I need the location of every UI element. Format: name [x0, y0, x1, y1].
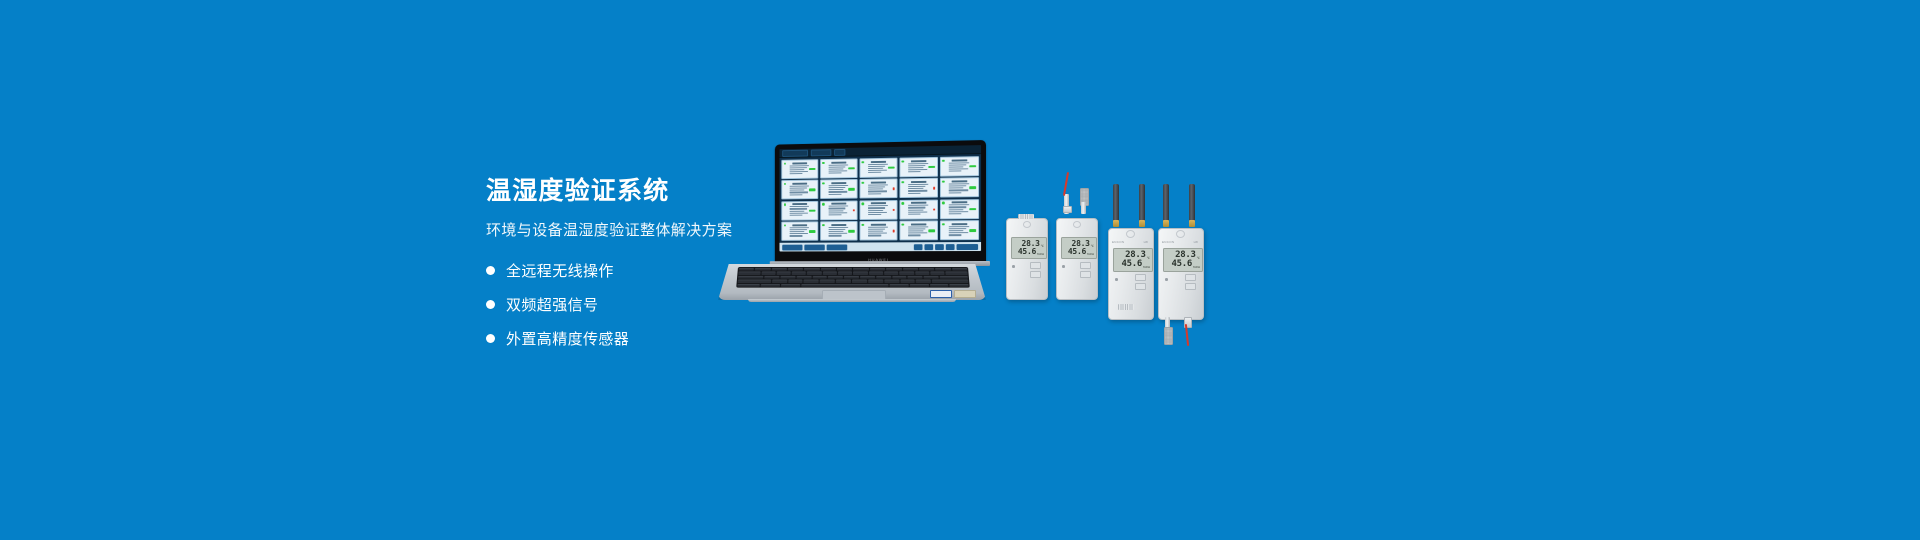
- sensor-status-pill: [933, 208, 935, 210]
- sensor-status-led-icon: [784, 183, 786, 185]
- sensor-card-title: [871, 181, 887, 183]
- hanger-hole-icon: [1126, 230, 1135, 238]
- sensor-status-pill: [888, 167, 895, 169]
- header-chip: [782, 149, 808, 156]
- sensor-field: [868, 207, 886, 208]
- pager-button[interactable]: [914, 244, 923, 250]
- laptop-sticker-blue: [930, 290, 952, 298]
- sensor-field: [948, 171, 961, 172]
- laptop-keyboard[interactable]: [736, 267, 970, 288]
- sensor-field: [908, 228, 926, 229]
- keyboard-key[interactable]: [788, 280, 803, 283]
- sensor-card[interactable]: [899, 178, 938, 198]
- keyboard-key[interactable]: [884, 280, 899, 283]
- lcd-humidity-unit: %RH: [1087, 253, 1094, 257]
- sensor-status-led-icon: [862, 182, 864, 184]
- sensor-status-pill: [969, 165, 976, 168]
- status-led-icon: [1062, 265, 1065, 268]
- sensor-field: [948, 204, 969, 205]
- sensor-card-title: [951, 180, 967, 182]
- sensor-field: [948, 232, 968, 233]
- device-lcd-display: 28.3 ℃ 45.6 %RH: [1113, 248, 1153, 272]
- keyboard-key[interactable]: [837, 268, 852, 271]
- sensor-field: [790, 235, 803, 236]
- header-chip: [811, 149, 831, 156]
- sensor-field: [828, 231, 843, 232]
- sensor-card[interactable]: [940, 156, 980, 176]
- sensor-status-pill: [933, 187, 935, 189]
- keyboard-key[interactable]: [924, 276, 939, 279]
- sensor-status-led-icon: [942, 159, 944, 162]
- sensor-field: [790, 212, 808, 213]
- keyboard-key[interactable]: [886, 268, 901, 271]
- keyboard-key[interactable]: [812, 276, 827, 279]
- device-wireless-logger-dual-antenna-probe: ENCON H8 28.3 ℃ 45.6 %RH: [1158, 228, 1202, 318]
- keyboard-key[interactable]: [737, 284, 760, 287]
- sensor-field: [908, 214, 921, 215]
- keyboard-key[interactable]: [870, 268, 885, 271]
- toolbar-button[interactable]: [804, 244, 824, 250]
- sensor-card-title: [871, 223, 887, 225]
- keyboard-key[interactable]: [792, 272, 807, 275]
- device-button-down[interactable]: [1185, 283, 1196, 290]
- keyboard-key[interactable]: [772, 280, 787, 283]
- sensor-field: [828, 212, 847, 213]
- header-chip: [834, 148, 845, 155]
- device-button-down[interactable]: [1135, 283, 1146, 290]
- sensor-field: [908, 205, 929, 206]
- device-data-logger-external-probe: 28.3 ℃ 45.6 %RH: [1056, 218, 1096, 298]
- sensor-field: [908, 171, 921, 172]
- sensor-card-title: [911, 181, 927, 183]
- lcd-humidity-row: 45.6 %RH: [1018, 248, 1044, 256]
- sensor-field: [868, 189, 883, 190]
- device-button-up[interactable]: [1080, 262, 1091, 269]
- sensor-field: [828, 173, 841, 174]
- sensor-field: [948, 190, 968, 191]
- sensor-field: [828, 185, 848, 186]
- keyboard-key[interactable]: [738, 276, 764, 279]
- sensor-field: [948, 168, 968, 170]
- keyboard-key[interactable]: [838, 272, 852, 275]
- keyboard-key[interactable]: [949, 284, 968, 287]
- sensor-status-led-icon: [822, 161, 824, 163]
- keyboard-key[interactable]: [796, 276, 811, 279]
- pager-button[interactable]: [935, 244, 944, 250]
- device-top-grille: [1018, 214, 1034, 219]
- sensor-card[interactable]: [820, 200, 858, 220]
- device-button-up[interactable]: [1030, 262, 1041, 269]
- bullet-dot-icon: [486, 266, 495, 275]
- keyboard-key[interactable]: [828, 276, 843, 279]
- sensor-field: [908, 165, 926, 166]
- keyboard-key[interactable]: [900, 272, 915, 275]
- hanger-hole-icon: [1176, 230, 1185, 238]
- device-lcd-display: 28.3 ℃ 45.6 %RH: [1011, 237, 1047, 259]
- sensor-field: [948, 207, 966, 208]
- sensor-field: [828, 208, 845, 209]
- sensor-card[interactable]: [899, 157, 938, 177]
- probe-stem: [1081, 202, 1086, 214]
- antenna-connector-right: [1189, 220, 1195, 227]
- sensor-field: [828, 191, 847, 192]
- antenna-connector-left: [1113, 220, 1119, 227]
- keyboard-key[interactable]: [916, 280, 931, 283]
- device-housing: [1006, 218, 1048, 300]
- keyboard-key[interactable]: [900, 280, 915, 283]
- device-bottom-grille: [1118, 304, 1134, 310]
- sensor-card-title: [792, 224, 807, 226]
- device-lcd-display: 28.3 ℃ 45.6 %RH: [1163, 248, 1203, 272]
- sensor-status-led-icon: [784, 203, 786, 205]
- sensor-field: [908, 188, 923, 189]
- device-model: H8: [1144, 240, 1148, 244]
- sensor-field: [868, 191, 887, 192]
- keyboard-key[interactable]: [876, 276, 891, 279]
- keyboard-key[interactable]: [860, 276, 875, 279]
- lcd-humidity-row: 45.6 %RH: [1122, 260, 1151, 269]
- sensor-card-title: [792, 162, 807, 164]
- sensor-status-pill: [969, 187, 976, 189]
- sensor-field: [828, 210, 843, 211]
- sensor-card[interactable]: [859, 200, 897, 220]
- sensor-status-led-icon: [862, 203, 864, 205]
- keyboard-key[interactable]: [890, 284, 909, 287]
- toolbar-button-exit[interactable]: [957, 244, 979, 250]
- antenna-connector-left: [1163, 220, 1169, 227]
- sensor-field: [828, 170, 847, 171]
- keyboard-key[interactable]: [844, 276, 859, 279]
- device-lcd-display: 28.3 ℃ 45.6 %RH: [1061, 237, 1097, 259]
- sensor-field: [948, 213, 961, 214]
- keyboard-key[interactable]: [807, 272, 822, 275]
- keyboard-key[interactable]: [776, 272, 791, 275]
- keyboard-key[interactable]: [910, 284, 929, 287]
- sensor-status-led-icon: [784, 162, 786, 164]
- lcd-humidity-row: 45.6 %RH: [1068, 248, 1094, 256]
- device-keypad[interactable]: [1185, 274, 1196, 290]
- keyboard-key[interactable]: [821, 268, 836, 271]
- keyboard-key[interactable]: [932, 280, 968, 283]
- sensor-card[interactable]: [820, 221, 858, 241]
- keyboard-key[interactable]: [738, 272, 760, 275]
- sensor-status-pill: [848, 167, 855, 169]
- keyboard-key[interactable]: [820, 280, 835, 283]
- keyboard-key[interactable]: [836, 280, 851, 283]
- sensor-card[interactable]: [940, 177, 980, 197]
- sensor-field: [948, 235, 961, 236]
- sensor-card-title: [871, 202, 887, 204]
- sensor-field: [948, 162, 969, 164]
- lcd-humidity-value: 45.6: [1068, 248, 1086, 256]
- sensor-field: [868, 226, 888, 227]
- sensor-card[interactable]: [859, 179, 897, 199]
- sensor-card-title: [831, 203, 846, 205]
- laptop-front-edge: [748, 299, 956, 302]
- sensor-field: [790, 192, 808, 193]
- keyboard-key[interactable]: [952, 268, 968, 271]
- keyboard-key[interactable]: [852, 280, 867, 283]
- sensor-field: [868, 170, 887, 171]
- sensor-field: [908, 192, 921, 193]
- keyboard-key[interactable]: [801, 284, 888, 287]
- sensor-status-led-icon: [822, 224, 824, 226]
- sensor-status-pill: [893, 209, 895, 211]
- keyboard-key[interactable]: [868, 280, 883, 283]
- sensor-field: [908, 169, 927, 170]
- sensor-field: [828, 229, 845, 230]
- keyboard-key[interactable]: [884, 272, 898, 275]
- keyboard-key[interactable]: [853, 272, 867, 275]
- pager-button[interactable]: [946, 244, 955, 250]
- sensor-card-title: [911, 160, 927, 162]
- sensor-field: [948, 230, 963, 231]
- sensor-status-pill: [928, 229, 935, 231]
- sensor-card-title: [951, 223, 967, 225]
- sensor-status-led-icon: [942, 223, 944, 225]
- sensor-card[interactable]: [781, 159, 818, 179]
- device-housing: [1056, 218, 1098, 300]
- device-button-down[interactable]: [1080, 271, 1091, 278]
- device-data-logger-compact: 28.3 ℃ 45.6 %RH: [1006, 218, 1046, 298]
- hanger-hole-icon: [1023, 221, 1031, 228]
- laptop-product-image: HUAWEI: [718, 140, 986, 300]
- sensor-status-led-icon: [862, 224, 864, 226]
- sensor-card[interactable]: [940, 220, 980, 240]
- sensor-field: [948, 209, 963, 210]
- sensor-status-pill: [893, 188, 895, 190]
- device-keypad[interactable]: [1135, 274, 1146, 290]
- sensor-field: [828, 227, 848, 228]
- sensor-field: [828, 235, 841, 236]
- keyboard-key[interactable]: [780, 276, 795, 279]
- sensor-field: [908, 209, 923, 210]
- sensor-card[interactable]: [781, 201, 818, 221]
- sensor-field: [790, 171, 808, 172]
- sensor-status-pill: [809, 230, 815, 232]
- status-led-icon: [1165, 278, 1168, 281]
- keyboard-key[interactable]: [804, 280, 819, 283]
- sensor-field: [790, 215, 803, 216]
- sensor-card[interactable]: [820, 158, 858, 178]
- keyboard-key[interactable]: [771, 268, 787, 271]
- device-button-up[interactable]: [1135, 274, 1146, 281]
- sensor-field: [868, 212, 887, 213]
- sensor-field: [868, 205, 888, 206]
- sensor-status-pill: [969, 208, 976, 210]
- keyboard-key[interactable]: [903, 268, 919, 271]
- sensor-field: [868, 163, 888, 165]
- sensor-field: [790, 194, 803, 195]
- keyboard-key[interactable]: [892, 276, 907, 279]
- antenna-connector-right: [1139, 220, 1145, 227]
- keyboard-key[interactable]: [738, 280, 771, 283]
- sensor-field: [868, 193, 881, 194]
- keyboard-key[interactable]: [788, 268, 804, 271]
- device-brand-row: ENCON H8: [1158, 240, 1202, 244]
- sensor-field: [868, 184, 888, 185]
- device-brand-row: ENCON H8: [1108, 240, 1152, 244]
- keyboard-key[interactable]: [764, 276, 779, 279]
- sensor-status-pill: [853, 209, 855, 211]
- sensor-field: [868, 172, 881, 173]
- device-keypad[interactable]: [1030, 262, 1041, 278]
- sensor-status-led-icon: [822, 182, 824, 184]
- sensor-card-title: [951, 201, 967, 203]
- sensor-field: [908, 190, 927, 191]
- laptop-sticker-gold: [954, 290, 976, 298]
- sensor-field: [908, 233, 927, 234]
- device-model: H8: [1194, 240, 1198, 244]
- sensor-status-led-icon: [902, 160, 904, 163]
- keyboard-key[interactable]: [761, 272, 776, 275]
- sensor-card-title: [911, 223, 927, 225]
- sensor-field: [828, 214, 841, 215]
- hanger-hole-icon: [1073, 221, 1081, 228]
- sensor-field: [790, 173, 803, 174]
- sensor-card-title: [792, 183, 807, 185]
- status-led-icon: [1115, 278, 1118, 281]
- keyboard-key[interactable]: [781, 284, 800, 287]
- sensor-card[interactable]: [859, 221, 897, 241]
- sensor-status-led-icon: [942, 202, 944, 205]
- keyboard-key[interactable]: [915, 272, 930, 275]
- device-button-up[interactable]: [1185, 274, 1196, 281]
- laptop-lid: HUAWEI: [775, 140, 986, 264]
- sensor-status-pill: [848, 188, 855, 190]
- sensor-field: [948, 228, 966, 229]
- sensor-field: [948, 226, 969, 227]
- antenna-right: [1189, 184, 1195, 222]
- lcd-humidity-unit: %RH: [1193, 266, 1200, 270]
- sensor-status-led-icon: [942, 180, 944, 183]
- sensor-status-pill: [969, 229, 976, 231]
- sensor-card[interactable]: [899, 220, 938, 240]
- sensor-card[interactable]: [781, 180, 818, 200]
- sensor-field: [828, 206, 848, 207]
- sensor-card[interactable]: [820, 179, 858, 199]
- sensor-field: [828, 233, 847, 234]
- sensor-card-title: [831, 161, 846, 163]
- sensor-field: [790, 233, 808, 234]
- status-led-icon: [1012, 265, 1015, 268]
- sensor-field: [868, 210, 883, 211]
- sensor-card[interactable]: [899, 199, 938, 219]
- keyboard-key[interactable]: [930, 272, 945, 275]
- keyboard-key[interactable]: [946, 272, 968, 275]
- device-keypad[interactable]: [1080, 262, 1091, 278]
- sensor-field: [868, 235, 881, 236]
- pager-button[interactable]: [924, 244, 933, 250]
- keyboard-key[interactable]: [739, 268, 755, 271]
- sensor-field: [868, 228, 886, 229]
- sensor-card-grid: [779, 154, 981, 243]
- sensor-field: [908, 226, 929, 227]
- sensor-card-title: [951, 159, 967, 161]
- sensor-field: [790, 210, 805, 211]
- sensor-field: [908, 163, 929, 165]
- bullet-dot-icon: [486, 334, 495, 343]
- keyboard-key[interactable]: [823, 272, 837, 275]
- lcd-humidity-value: 45.6: [1018, 248, 1036, 256]
- sensor-field: [868, 231, 883, 232]
- keyboard-key[interactable]: [804, 268, 819, 271]
- sensor-field: [908, 230, 923, 231]
- sensor-field: [908, 235, 921, 236]
- sensor-field: [948, 164, 966, 166]
- feature-label: 外置高精度传感器: [506, 328, 629, 349]
- toolbar-button[interactable]: [827, 244, 848, 250]
- monitoring-dashboard: [779, 145, 981, 251]
- sensor-field: [790, 231, 805, 232]
- probe-connector: [1063, 206, 1072, 213]
- device-button-down[interactable]: [1030, 271, 1041, 278]
- lcd-humidity-value: 45.6: [1172, 260, 1192, 269]
- sensor-field: [828, 166, 845, 167]
- sensor-status-pill: [893, 230, 895, 232]
- sensor-field: [948, 211, 968, 212]
- sensor-status-pill: [928, 166, 935, 168]
- keyboard-key[interactable]: [935, 268, 951, 271]
- promo-banner: 温湿度验证系统 环境与设备温湿度验证整体解决方案 全远程无线操作 双频超强信号 …: [0, 0, 1920, 540]
- feature-label: 双频超强信号: [506, 294, 598, 315]
- probe-cable-red: [1063, 172, 1069, 196]
- sensor-field: [790, 229, 807, 230]
- device-brand: ENCON: [1162, 240, 1174, 244]
- toolbar-button[interactable]: [782, 244, 802, 250]
- keyboard-key[interactable]: [919, 268, 935, 271]
- device-wireless-logger-dual-antenna: ENCON H8 28.3 ℃ 45.6 %RH: [1108, 228, 1152, 318]
- bullet-dot-icon: [486, 300, 495, 309]
- keyboard-key[interactable]: [869, 272, 883, 275]
- sensor-card[interactable]: [781, 221, 818, 240]
- laptop-screen: [779, 145, 981, 251]
- sensor-field: [828, 193, 841, 194]
- sensor-status-led-icon: [862, 161, 864, 163]
- sensor-status-pill: [809, 209, 815, 211]
- sensor-status-led-icon: [784, 224, 786, 226]
- sensor-field: [828, 164, 848, 166]
- antenna-right: [1139, 184, 1145, 222]
- lcd-humidity-unit: %RH: [1143, 266, 1150, 270]
- sensor-field: [868, 214, 881, 215]
- sensor-field: [908, 207, 926, 208]
- feature-label: 全远程无线操作: [506, 260, 614, 281]
- sensor-field: [868, 165, 886, 166]
- sensor-field: [948, 188, 963, 189]
- keyboard-key[interactable]: [755, 268, 771, 271]
- sensor-field: [790, 208, 807, 209]
- sensor-field: [790, 167, 807, 168]
- sensor-status-led-icon: [902, 181, 904, 183]
- sensor-field: [790, 165, 810, 167]
- sensor-field: [948, 185, 966, 186]
- humidity-probe-mesh: [1164, 327, 1173, 345]
- antenna-left: [1113, 184, 1119, 222]
- keyboard-key[interactable]: [761, 284, 780, 287]
- sensor-status-led-icon: [902, 202, 904, 204]
- sensor-status-led-icon: [902, 223, 904, 225]
- list-item: 外置高精度传感器: [486, 328, 906, 349]
- keyboard-key[interactable]: [939, 276, 968, 279]
- sensor-field: [948, 192, 961, 193]
- sensor-card[interactable]: [940, 199, 980, 219]
- sensor-status-pill: [809, 189, 815, 191]
- sensor-card[interactable]: [859, 158, 897, 178]
- keyboard-key[interactable]: [929, 284, 948, 287]
- keyboard-key[interactable]: [908, 276, 923, 279]
- keyboard-key[interactable]: [853, 268, 868, 271]
